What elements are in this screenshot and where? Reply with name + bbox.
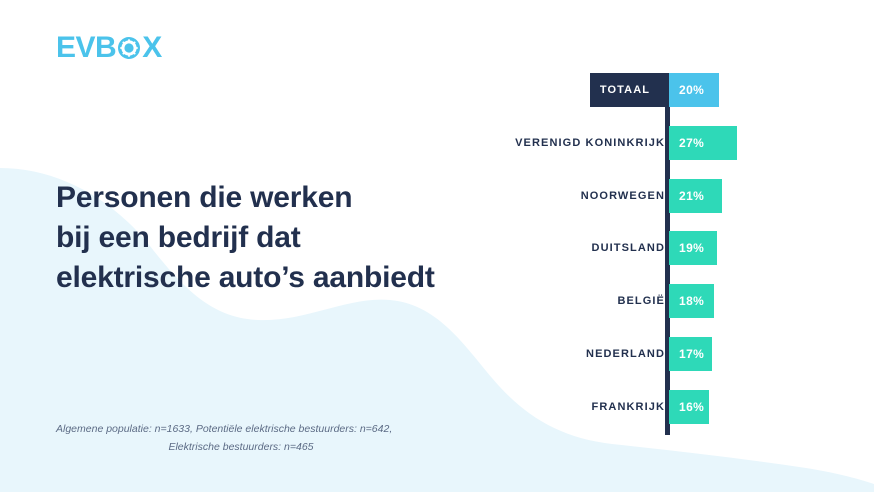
chart-row-label: BELGIË	[617, 284, 665, 318]
chart-row-label: NOORWEGEN	[581, 179, 665, 213]
chart-bar-value: 21%	[679, 189, 704, 203]
chart-row: NOORWEGEN21%	[420, 179, 720, 213]
logo-text-left: EVB	[56, 33, 116, 63]
slide-canvas: EVB	[0, 0, 874, 492]
chart-bar-value: 17%	[679, 347, 704, 361]
chart-bar-value: 16%	[679, 400, 704, 414]
chart-bar: 27%	[669, 126, 737, 160]
chart-bar: 20%	[669, 73, 719, 107]
evbox-logo[interactable]: EVB	[56, 33, 162, 63]
chart-row-label: DUITSLAND	[592, 231, 665, 265]
chart-row: TOTAAL20%	[420, 73, 720, 107]
chart-row: BELGIË18%	[420, 284, 720, 318]
chart-bar-value: 19%	[679, 241, 704, 255]
footnote-line-1: Algemene populatie: n=1633, Potentiële e…	[56, 420, 426, 438]
chart-bar: 16%	[669, 390, 709, 424]
bar-chart: TOTAAL20%VERENIGD KONINKRIJK27%NOORWEGEN…	[420, 66, 720, 436]
logo-wordmark: EVB	[56, 33, 162, 63]
chart-bar-value: 18%	[679, 294, 704, 308]
chart-row-label: NEDERLAND	[586, 337, 665, 371]
footnote-sample-sizes: Algemene populatie: n=1633, Potentiële e…	[56, 420, 426, 457]
chart-row: NEDERLAND17%	[420, 337, 720, 371]
chart-bar-value: 27%	[679, 136, 704, 150]
chart-row-label: VERENIGD KONINKRIJK	[515, 126, 665, 160]
chart-bar: 21%	[669, 179, 722, 213]
chart-bar-value: 20%	[679, 83, 704, 97]
logo-text-right: X	[142, 33, 162, 63]
chart-bar: 18%	[669, 284, 714, 318]
chart-row-label: TOTAAL	[590, 73, 666, 107]
chart-row: DUITSLAND19%	[420, 231, 720, 265]
chart-row-label: FRANKRIJK	[592, 390, 665, 424]
chart-row: VERENIGD KONINKRIJK27%	[420, 126, 720, 160]
gear-o-icon	[117, 36, 141, 60]
chart-row: FRANKRIJK16%	[420, 390, 720, 424]
chart-bar: 19%	[669, 231, 717, 265]
footnote-line-2: Elektrische bestuurders: n=465	[56, 438, 426, 456]
chart-bar: 17%	[669, 337, 712, 371]
